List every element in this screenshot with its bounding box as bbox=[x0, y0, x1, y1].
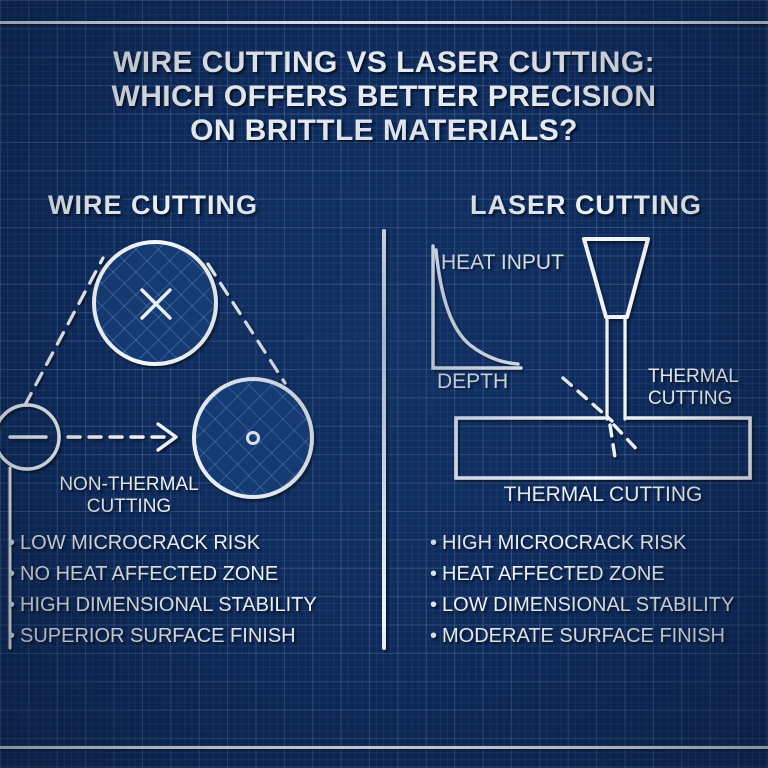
list-item: •LOW DIMENSIONAL STABILITY bbox=[430, 590, 734, 621]
label-non-thermal-cutting: NON-THERMAL CUTTING bbox=[44, 474, 214, 518]
label-thermal-cutting-workpiece: THERMAL CUTTING bbox=[455, 484, 751, 506]
bottom-divider-rule bbox=[0, 746, 768, 749]
column-heading-laser-cutting: LASER CUTTING bbox=[470, 190, 702, 221]
center-hole-marker bbox=[248, 433, 259, 444]
infographic-canvas: WIRE CUTTING VS LASER CUTTING: WHICH OFF… bbox=[0, 0, 768, 768]
bullet-marker-icon: • bbox=[8, 563, 15, 585]
link-top-circle-to-result-circle bbox=[208, 264, 285, 383]
wire-source-circle bbox=[0, 405, 59, 469]
list-item-label: NO HEAT AFFECTED ZONE bbox=[20, 563, 278, 585]
label-thermal-cutting-nozzle: THERMAL CUTTING bbox=[648, 366, 768, 410]
list-item-label: HIGH DIMENSIONAL STABILITY bbox=[20, 594, 317, 616]
list-item-label: MODERATE SURFACE FINISH bbox=[442, 625, 725, 647]
drawbacks-list-laser-cutting: •HIGH MICROCRACK RISK •HEAT AFFECTED ZON… bbox=[430, 528, 734, 652]
workpiece-outline bbox=[456, 418, 750, 478]
laser-nozzle-body bbox=[584, 239, 648, 317]
process-arrow-head bbox=[158, 424, 176, 450]
page-title: WIRE CUTTING VS LASER CUTTING: WHICH OFF… bbox=[0, 46, 768, 148]
wire-cut-circle-top bbox=[94, 242, 216, 364]
bullet-marker-icon: • bbox=[8, 594, 15, 616]
cross-mark-stroke-a bbox=[142, 290, 170, 318]
list-item-label: LOW DIMENSIONAL STABILITY bbox=[442, 594, 734, 616]
list-item: •NO HEAT AFFECTED ZONE bbox=[8, 559, 317, 590]
benefits-list-wire-cutting: •LOW MICROCRACK RISK •NO HEAT AFFECTED Z… bbox=[8, 528, 317, 652]
column-heading-wire-cutting: WIRE CUTTING bbox=[48, 190, 258, 221]
cross-mark-stroke-b bbox=[142, 290, 170, 318]
list-item: •HIGH MICROCRACK RISK bbox=[430, 528, 734, 559]
crack-line-upper bbox=[563, 378, 612, 421]
link-source-to-top-circle bbox=[25, 258, 103, 405]
list-item-label: LOW MICROCRACK RISK bbox=[20, 532, 260, 554]
list-item: •HEAT AFFECTED ZONE bbox=[430, 559, 734, 590]
list-item-label: SUPERIOR SURFACE FINISH bbox=[20, 625, 296, 647]
crack-line-lower-left bbox=[610, 425, 616, 464]
bullet-marker-icon: • bbox=[430, 594, 437, 616]
list-item: •SUPERIOR SURFACE FINISH bbox=[8, 621, 317, 652]
list-item-label: HIGH MICROCRACK RISK bbox=[442, 532, 686, 554]
list-item: •MODERATE SURFACE FINISH bbox=[430, 621, 734, 652]
chart-x-axis-label: DEPTH bbox=[437, 371, 508, 393]
bullet-marker-icon: • bbox=[8, 625, 15, 647]
bullet-marker-icon: • bbox=[430, 532, 437, 554]
top-divider-rule bbox=[0, 21, 768, 24]
bullet-marker-icon: • bbox=[8, 532, 15, 554]
list-item: •LOW MICROCRACK RISK bbox=[8, 528, 317, 559]
crack-line-lower-right bbox=[614, 425, 641, 454]
chart-y-axis-label: HEAT INPUT bbox=[441, 252, 564, 274]
bullet-marker-icon: • bbox=[430, 563, 437, 585]
list-item: •HIGH DIMENSIONAL STABILITY bbox=[8, 590, 317, 621]
list-item-label: HEAT AFFECTED ZONE bbox=[442, 563, 665, 585]
bullet-marker-icon: • bbox=[430, 625, 437, 647]
